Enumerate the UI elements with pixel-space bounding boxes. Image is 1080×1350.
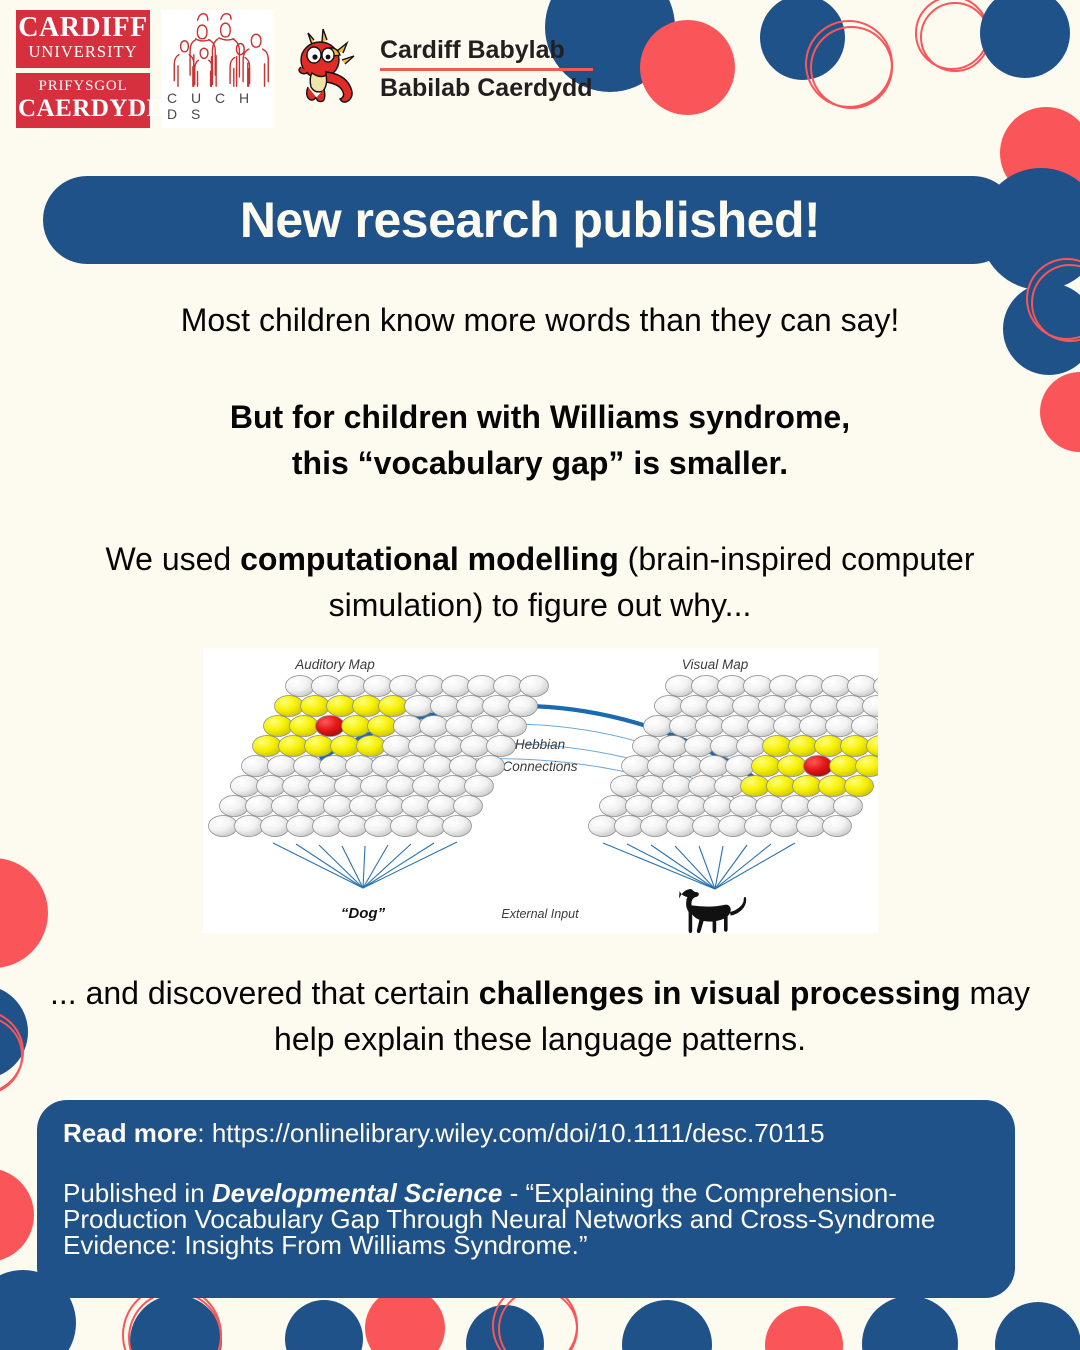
map-node-inactive bbox=[759, 696, 788, 717]
cuchds-people-icon bbox=[166, 10, 270, 90]
figure-caption-hebbian-line2: Connections bbox=[502, 759, 577, 774]
map-node-inactive bbox=[209, 816, 238, 837]
map-node-inactive bbox=[771, 816, 800, 837]
map-node-inactive bbox=[443, 816, 472, 837]
map-node-inactive bbox=[663, 776, 692, 797]
map-node-inactive bbox=[376, 796, 405, 817]
map-node-inactive bbox=[730, 796, 759, 817]
map-node-inactive bbox=[268, 756, 297, 777]
map-node-inactive bbox=[320, 756, 349, 777]
map-node-inactive bbox=[409, 736, 438, 757]
map-node-inactive bbox=[648, 756, 677, 777]
map-node-inactive bbox=[852, 716, 879, 737]
map-node-inactive bbox=[520, 676, 549, 697]
map-node-inactive bbox=[785, 696, 814, 717]
circle-red-4 bbox=[0, 858, 48, 968]
map-node-inactive bbox=[693, 816, 722, 837]
map-node-inactive bbox=[509, 696, 538, 717]
map-node-inactive bbox=[670, 716, 699, 737]
map-node-inactive bbox=[692, 676, 721, 697]
map-node-active bbox=[845, 776, 874, 797]
map-node-inactive bbox=[666, 676, 695, 697]
paragraph-key-finding: But for children with Williams syndrome,… bbox=[50, 394, 1030, 486]
map-node-inactive bbox=[420, 716, 449, 737]
map-node-inactive bbox=[715, 776, 744, 797]
map-node-inactive bbox=[644, 716, 673, 737]
map-node-inactive bbox=[498, 716, 527, 737]
map-node-inactive bbox=[744, 676, 773, 697]
map-node-inactive bbox=[424, 756, 453, 777]
map-node-inactive bbox=[246, 796, 275, 817]
map-node-inactive bbox=[372, 756, 401, 777]
map-node-inactive bbox=[707, 696, 736, 717]
map-node-inactive bbox=[339, 816, 368, 837]
map-node-inactive bbox=[231, 776, 260, 797]
cuchds-logo: C U C H D S bbox=[162, 10, 274, 128]
paragraph-method-emphasis: computational modelling bbox=[240, 541, 619, 577]
map-node-inactive bbox=[446, 716, 475, 737]
map-node-inactive bbox=[770, 676, 799, 697]
map-node-inactive bbox=[468, 676, 497, 697]
map-node-active bbox=[331, 736, 360, 757]
auditory-map-grid bbox=[209, 676, 549, 837]
map-node-inactive bbox=[235, 816, 264, 837]
paragraph-conclusion: ... and discovered that certain challeng… bbox=[50, 970, 1030, 1062]
map-node-inactive bbox=[350, 796, 379, 817]
cardiff-logo-english-block: CARDIFF UNIVERSITY bbox=[16, 10, 150, 68]
map-node-inactive bbox=[416, 676, 445, 697]
figure-caption-visual-map: Visual Map bbox=[682, 657, 749, 672]
map-node-inactive bbox=[826, 716, 855, 737]
babylab-divider-rule bbox=[380, 68, 593, 71]
map-node-inactive bbox=[726, 756, 755, 777]
paragraph-conclusion-pre: ... and discovered that certain bbox=[50, 975, 479, 1011]
map-node-inactive bbox=[756, 796, 785, 817]
map-node-inactive bbox=[442, 676, 471, 697]
map-node-inactive bbox=[626, 796, 655, 817]
dog-silhouette-icon bbox=[679, 889, 746, 933]
figure-caption-dog-word: “Dog” bbox=[341, 905, 386, 922]
circle-red-1 bbox=[640, 20, 735, 115]
map-node-inactive bbox=[242, 756, 271, 777]
map-node-inactive bbox=[476, 756, 505, 777]
map-node-inactive bbox=[748, 716, 777, 737]
map-node-active bbox=[741, 776, 770, 797]
map-node-inactive bbox=[733, 696, 762, 717]
figure-caption-hebbian-line1: Hebbian bbox=[515, 737, 565, 752]
poster-canvas: CARDIFF UNIVERSITY PRIFYSGOL CAERDYDD bbox=[0, 0, 1080, 1350]
circle-blue-3 bbox=[980, 0, 1070, 78]
map-node-inactive bbox=[335, 776, 364, 797]
map-node-inactive bbox=[655, 696, 684, 717]
map-node-inactive bbox=[405, 696, 434, 717]
map-node-inactive bbox=[494, 676, 523, 697]
circle-red-7 bbox=[765, 1306, 843, 1350]
map-node-inactive bbox=[298, 796, 327, 817]
map-node-inactive bbox=[257, 776, 286, 797]
map-node-inactive bbox=[641, 816, 670, 837]
map-node-active bbox=[275, 696, 304, 717]
cardiff-logo-welsh-block: PRIFYSGOL CAERDYDD bbox=[16, 73, 150, 128]
map-node-inactive bbox=[796, 676, 825, 697]
map-node-inactive bbox=[398, 756, 427, 777]
map-node-inactive bbox=[417, 816, 446, 837]
map-node-active bbox=[357, 736, 386, 757]
map-node-active bbox=[305, 736, 334, 757]
map-node-active bbox=[290, 716, 319, 737]
map-node-active bbox=[342, 716, 371, 737]
auditory-input-fan bbox=[273, 842, 457, 888]
map-node-inactive bbox=[338, 676, 367, 697]
read-more-label: Read more bbox=[63, 1118, 197, 1148]
visual-input-fan bbox=[603, 843, 795, 889]
reference-panel: Read more: https://onlinelibrary.wiley.c… bbox=[37, 1100, 1015, 1298]
cardiff-logo-line-caerdydd: CAERDYDD bbox=[18, 96, 148, 122]
read-more-separator: : bbox=[197, 1118, 211, 1148]
article-url[interactable]: https://onlinelibrary.wiley.com/doi/10.1… bbox=[212, 1118, 825, 1148]
som-network-diagram: Auditory Map Visual Map bbox=[203, 648, 878, 933]
map-node-inactive bbox=[782, 796, 811, 817]
map-node-inactive bbox=[600, 796, 629, 817]
map-node-inactive bbox=[431, 696, 460, 717]
map-node-inactive bbox=[667, 816, 696, 837]
map-node-inactive bbox=[874, 676, 879, 697]
map-node-inactive bbox=[364, 676, 393, 697]
map-node-inactive bbox=[383, 736, 412, 757]
paragraph-intro: Most children know more words than they … bbox=[50, 300, 1030, 341]
figure-caption-auditory-map: Auditory Map bbox=[294, 657, 375, 672]
map-node-inactive bbox=[719, 816, 748, 837]
map-node-inactive bbox=[361, 776, 390, 797]
circle-ring-1b bbox=[810, 26, 893, 109]
map-node-inactive bbox=[483, 696, 512, 717]
map-node-inactive bbox=[718, 676, 747, 697]
map-node-active bbox=[368, 716, 397, 737]
map-node-inactive bbox=[461, 736, 490, 757]
map-node-inactive bbox=[834, 796, 863, 817]
babylab-line-english: Cardiff Babylab bbox=[380, 38, 593, 63]
cardiff-babylab-logo: Cardiff Babylab Babilab Caerdydd bbox=[292, 27, 593, 111]
paragraph-conclusion-emphasis: challenges in visual processing bbox=[479, 975, 961, 1011]
map-node-inactive bbox=[797, 816, 826, 837]
map-node-inactive bbox=[837, 696, 866, 717]
map-node-inactive bbox=[652, 796, 681, 817]
map-node-inactive bbox=[823, 816, 852, 837]
map-node-active bbox=[778, 756, 807, 777]
map-node-inactive bbox=[863, 696, 879, 717]
paragraph-method-pre: We used bbox=[106, 541, 241, 577]
map-node-active bbox=[819, 776, 848, 797]
figure-caption-external-input: External Input bbox=[501, 907, 579, 921]
map-node-inactive bbox=[878, 716, 879, 737]
circle-blue-12 bbox=[862, 1296, 958, 1350]
map-node-inactive bbox=[220, 796, 249, 817]
map-node-inactive bbox=[678, 796, 707, 817]
map-node-inactive bbox=[287, 816, 316, 837]
map-node-inactive bbox=[622, 756, 651, 777]
map-node-inactive bbox=[391, 816, 420, 837]
map-node-inactive bbox=[659, 736, 688, 757]
map-node-inactive bbox=[685, 736, 714, 757]
citation-line: Published in Developmental Science - “Ex… bbox=[63, 1180, 989, 1258]
map-node-inactive bbox=[737, 736, 766, 757]
map-node-inactive bbox=[811, 696, 840, 717]
map-node-inactive bbox=[465, 776, 494, 797]
map-node-active bbox=[279, 736, 308, 757]
paragraph-key-finding-line2: this “vocabulary gap” is smaller. bbox=[50, 440, 1030, 486]
map-node-inactive bbox=[450, 756, 479, 777]
map-node-active bbox=[841, 736, 870, 757]
map-node-active bbox=[763, 736, 792, 757]
map-node-inactive bbox=[324, 796, 353, 817]
map-node-inactive bbox=[774, 716, 803, 737]
map-node-inactive bbox=[696, 716, 725, 737]
map-node-inactive bbox=[633, 736, 662, 757]
map-node-inactive bbox=[589, 816, 618, 837]
map-node-inactive bbox=[261, 816, 290, 837]
map-node-active bbox=[327, 696, 356, 717]
map-node-inactive bbox=[387, 776, 416, 797]
map-node-inactive bbox=[294, 756, 323, 777]
map-node-active bbox=[752, 756, 781, 777]
map-node-inactive bbox=[611, 776, 640, 797]
map-node-active bbox=[867, 736, 879, 757]
map-node-inactive bbox=[722, 716, 751, 737]
circle-blue-13 bbox=[995, 1302, 1080, 1350]
map-node-inactive bbox=[272, 796, 301, 817]
map-node-active bbox=[856, 756, 879, 777]
dragon-icon bbox=[292, 27, 370, 111]
page-title: New research published! bbox=[240, 191, 820, 249]
map-node-inactive bbox=[454, 796, 483, 817]
map-node-inactive bbox=[390, 676, 419, 697]
cardiff-logo-line-university: UNIVERSITY bbox=[18, 42, 148, 63]
cardiff-university-logo: CARDIFF UNIVERSITY PRIFYSGOL CAERDYDD bbox=[16, 10, 150, 127]
circle-blue-11 bbox=[622, 1300, 712, 1350]
circle-red-5 bbox=[0, 1168, 34, 1262]
map-node-inactive bbox=[283, 776, 312, 797]
map-node-inactive bbox=[365, 816, 394, 837]
title-banner: New research published! bbox=[43, 176, 1017, 264]
map-node-active bbox=[353, 696, 382, 717]
map-node-inactive bbox=[487, 736, 516, 757]
map-node-inactive bbox=[457, 696, 486, 717]
map-node-inactive bbox=[428, 796, 457, 817]
map-node-inactive bbox=[704, 796, 733, 817]
cuchds-wordmark: C U C H D S bbox=[162, 90, 274, 122]
map-node-active bbox=[767, 776, 796, 797]
paragraph-key-finding-line1: But for children with Williams syndrome, bbox=[50, 394, 1030, 440]
map-node-inactive bbox=[309, 776, 338, 797]
map-node-inactive bbox=[808, 796, 837, 817]
map-node-inactive bbox=[313, 816, 342, 837]
map-node-inactive bbox=[312, 676, 341, 697]
map-node-inactive bbox=[286, 676, 315, 697]
map-node-inactive bbox=[674, 756, 703, 777]
circle-red-3 bbox=[1040, 372, 1080, 452]
paragraph-method: We used computational modelling (brain-i… bbox=[50, 536, 1030, 628]
map-node-inactive bbox=[822, 676, 851, 697]
model-diagram-figure: Auditory Map Visual Map bbox=[203, 648, 878, 933]
map-node-active bbox=[830, 756, 859, 777]
map-node-inactive bbox=[700, 756, 729, 777]
map-node-inactive bbox=[681, 696, 710, 717]
map-node-inactive bbox=[435, 736, 464, 757]
map-node-winner bbox=[804, 756, 833, 777]
logo-bar: CARDIFF UNIVERSITY PRIFYSGOL CAERDYDD bbox=[16, 10, 593, 128]
map-node-inactive bbox=[800, 716, 829, 737]
babylab-wordmark: Cardiff Babylab Babilab Caerdydd bbox=[380, 38, 593, 101]
cardiff-logo-line-prifysgol: PRIFYSGOL bbox=[18, 77, 148, 97]
map-node-active bbox=[253, 736, 282, 757]
map-node-inactive bbox=[394, 716, 423, 737]
visual-map-grid bbox=[589, 676, 879, 837]
map-node-inactive bbox=[402, 796, 431, 817]
map-node-inactive bbox=[637, 776, 666, 797]
map-node-active bbox=[264, 716, 293, 737]
map-node-inactive bbox=[413, 776, 442, 797]
read-more-line: Read more: https://onlinelibrary.wiley.c… bbox=[63, 1120, 989, 1146]
circle-blue-9 bbox=[285, 1300, 363, 1350]
map-node-active bbox=[789, 736, 818, 757]
map-node-inactive bbox=[472, 716, 501, 737]
cardiff-logo-line-cardiff: CARDIFF bbox=[18, 14, 148, 42]
map-node-inactive bbox=[689, 776, 718, 797]
map-node-winner bbox=[316, 716, 345, 737]
map-node-inactive bbox=[745, 816, 774, 837]
map-node-active bbox=[815, 736, 844, 757]
map-node-inactive bbox=[848, 676, 877, 697]
map-node-inactive bbox=[346, 756, 375, 777]
map-node-inactive bbox=[711, 736, 740, 757]
map-node-inactive bbox=[615, 816, 644, 837]
map-node-active bbox=[301, 696, 330, 717]
map-node-active bbox=[793, 776, 822, 797]
map-node-active bbox=[379, 696, 408, 717]
map-node-inactive bbox=[439, 776, 468, 797]
babylab-line-welsh: Babilab Caerdydd bbox=[380, 76, 593, 101]
